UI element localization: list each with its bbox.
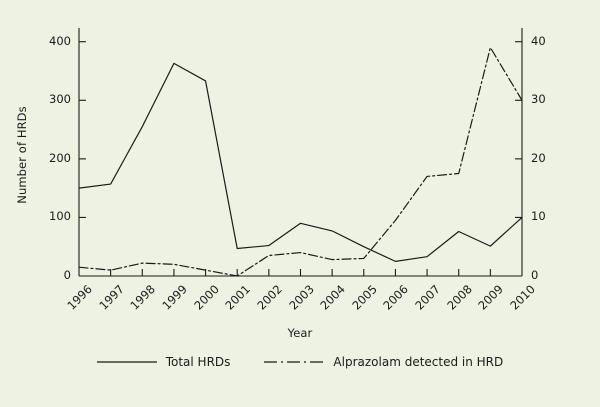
legend-swatch-solid-icon — [97, 357, 157, 367]
chart-figure: Number of HRDs Alprazolam detected in HR… — [0, 0, 600, 407]
chart-legend: Total HRDsAlprazolam detected in HRD — [0, 355, 600, 369]
legend-item[interactable]: Alprazolam detected in HRD — [264, 355, 503, 369]
tick-marks — [79, 42, 522, 276]
legend-label: Total HRDs — [166, 355, 231, 369]
series-line-0 — [79, 63, 522, 261]
legend-label: Alprazolam detected in HRD — [333, 355, 503, 369]
legend-item[interactable]: Total HRDs — [97, 355, 231, 369]
axis-lines — [79, 28, 522, 276]
plot-area — [0, 0, 600, 407]
series-lines — [79, 48, 522, 276]
legend-swatch-dash-dot-icon — [264, 357, 324, 367]
series-line-1 — [79, 48, 522, 276]
